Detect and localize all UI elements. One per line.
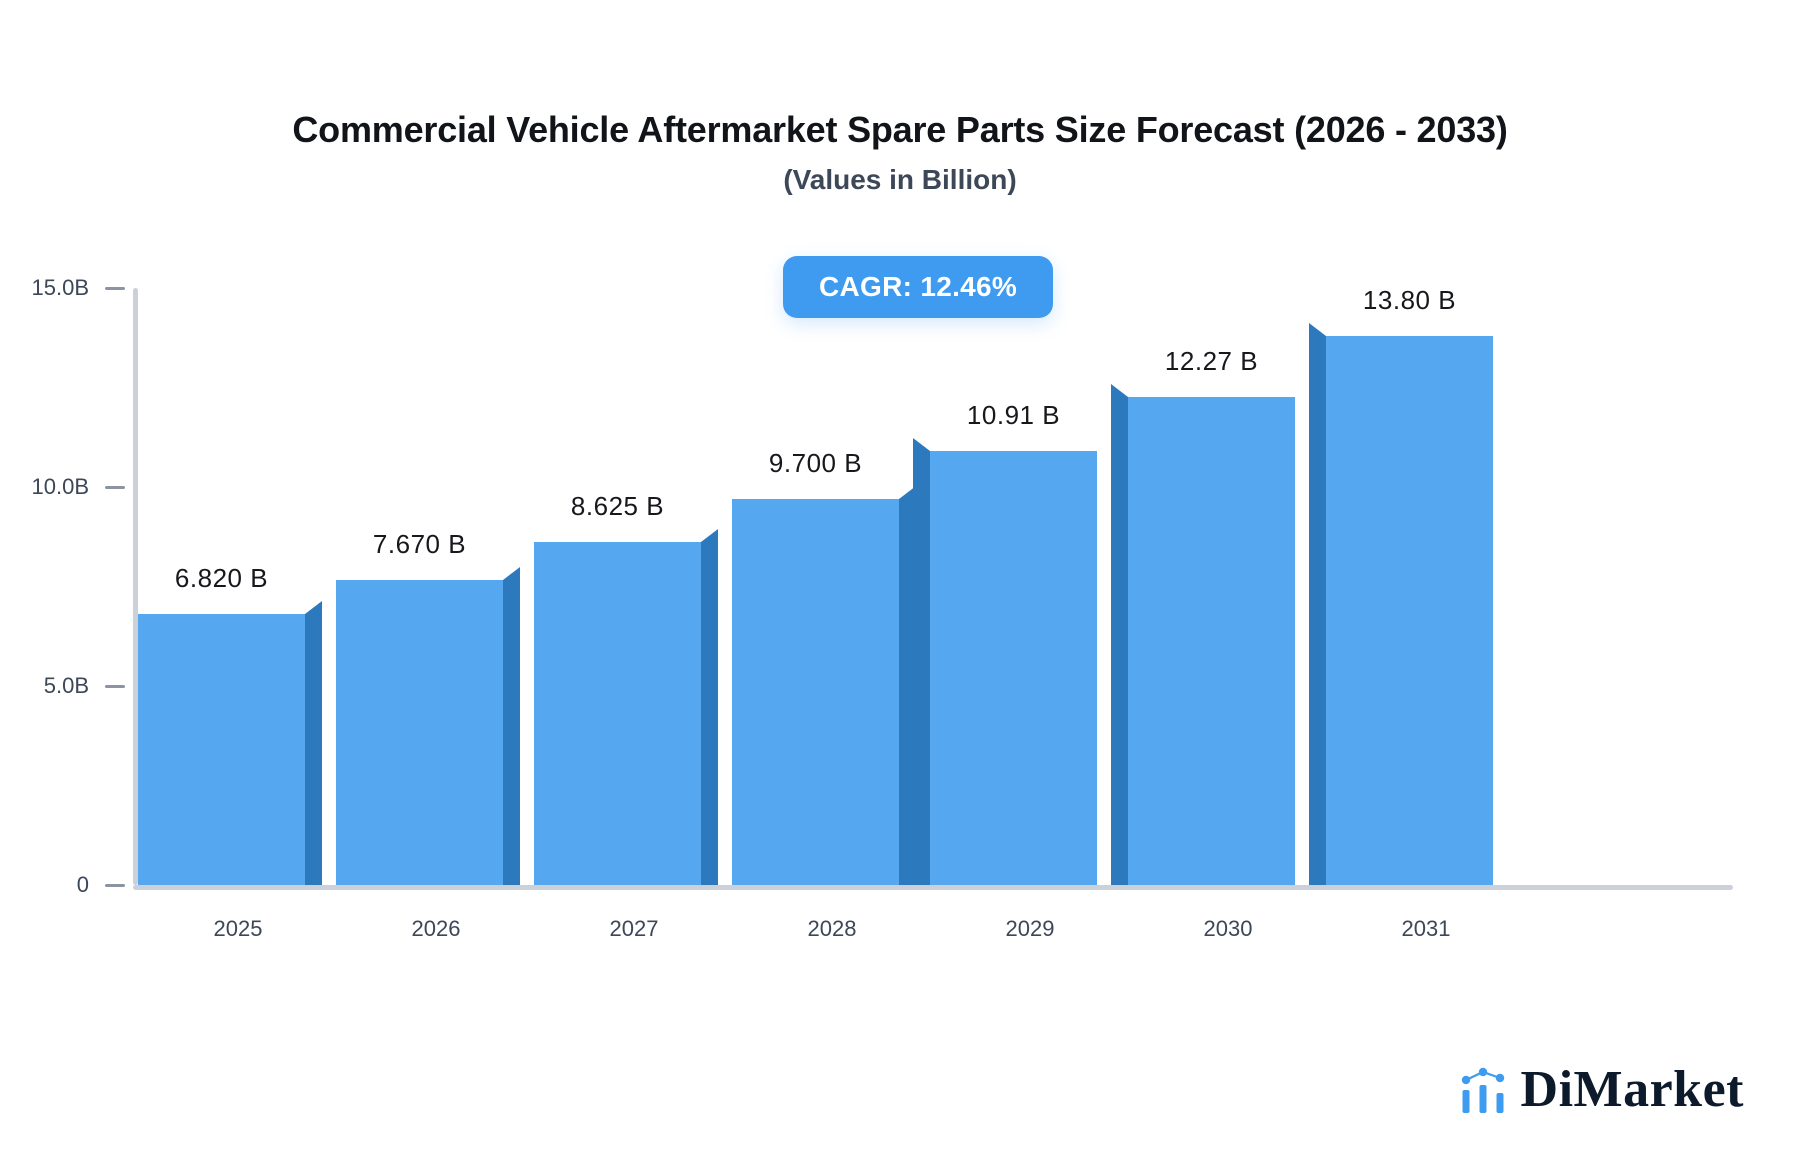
bar-2027[interactable] [534, 542, 701, 885]
bar-slot-2026: 7.670 B [336, 288, 503, 885]
bar-side-face [701, 529, 718, 885]
bar-front-face [138, 614, 305, 885]
x-axis-line [133, 885, 1733, 890]
bar-series: 6.820 B 7.670 B 8.625 B [138, 288, 1733, 885]
bar-chart-icon [1461, 1066, 1507, 1114]
bar-side-face [1111, 384, 1128, 885]
y-tick-dash-icon [105, 486, 125, 489]
chart-canvas: Commercial Vehicle Aftermarket Spare Par… [0, 0, 1800, 1156]
y-tick-label: 15.0B [32, 275, 90, 301]
x-tick-2029: 2029 [1006, 916, 1055, 942]
y-tick-dash-icon [105, 685, 125, 688]
y-tick-5: 5.0B [44, 676, 125, 696]
bar-side-face [503, 567, 520, 885]
bar-value-label: 6.820 B [175, 563, 268, 594]
bar-2029[interactable] [930, 451, 1097, 885]
brand-name: DiMarket [1521, 1064, 1744, 1116]
x-tick-2030: 2030 [1204, 916, 1253, 942]
y-tick-dash-icon [105, 287, 125, 290]
bar-2025[interactable] [138, 614, 305, 885]
bar-slot-2029: 10.91 B [930, 288, 1097, 885]
chart-header: Commercial Vehicle Aftermarket Spare Par… [0, 108, 1800, 197]
bar-slot-2030: 12.27 B [1128, 288, 1295, 885]
bar-front-face [930, 451, 1097, 885]
y-tick-15: 15.0B [32, 278, 126, 298]
bar-slot-2031: 13.80 B [1326, 288, 1493, 885]
bar-front-face [1326, 336, 1493, 885]
brand-logo: DiMarket [1461, 1064, 1744, 1116]
x-tick-2031: 2031 [1402, 916, 1451, 942]
y-tick-dash-icon [105, 884, 125, 887]
bar-front-face [732, 499, 899, 885]
y-axis: 15.0B 10.0B 5.0B 0 [0, 288, 125, 885]
x-tick-2026: 2026 [412, 916, 461, 942]
bar-value-label: 13.80 B [1363, 285, 1456, 316]
bar-front-face [1128, 397, 1295, 885]
bar-value-label: 7.670 B [373, 529, 466, 560]
chart-title: Commercial Vehicle Aftermarket Spare Par… [0, 108, 1800, 151]
y-tick-10: 10.0B [32, 477, 126, 497]
bar-slot-2025: 6.820 B [138, 288, 305, 885]
x-tick-2025: 2025 [214, 916, 263, 942]
y-tick-label: 0 [77, 872, 89, 898]
x-tick-2028: 2028 [808, 916, 857, 942]
bar-side-face [913, 438, 930, 885]
bar-value-label: 9.700 B [769, 448, 862, 479]
bar-2028[interactable] [732, 499, 899, 885]
bar-2030[interactable] [1128, 397, 1295, 885]
bar-value-label: 10.91 B [967, 400, 1060, 431]
bar-side-face [305, 601, 322, 885]
bar-side-face [1309, 323, 1326, 885]
chart-subtitle: (Values in Billion) [0, 163, 1800, 197]
bar-2026[interactable] [336, 580, 503, 885]
bar-front-face [534, 542, 701, 885]
bar-2031[interactable] [1326, 336, 1493, 885]
y-tick-label: 5.0B [44, 673, 89, 699]
bar-front-face [336, 580, 503, 885]
x-tick-2027: 2027 [610, 916, 659, 942]
bar-value-label: 12.27 B [1165, 346, 1258, 377]
plot-area: 6.820 B 7.670 B 8.625 B [133, 288, 1733, 885]
bar-slot-2027: 8.625 B [534, 288, 701, 885]
y-tick-label: 10.0B [32, 474, 90, 500]
bar-slot-2028: 9.700 B [732, 288, 899, 885]
bar-value-label: 8.625 B [571, 491, 664, 522]
y-tick-0: 0 [77, 875, 125, 895]
